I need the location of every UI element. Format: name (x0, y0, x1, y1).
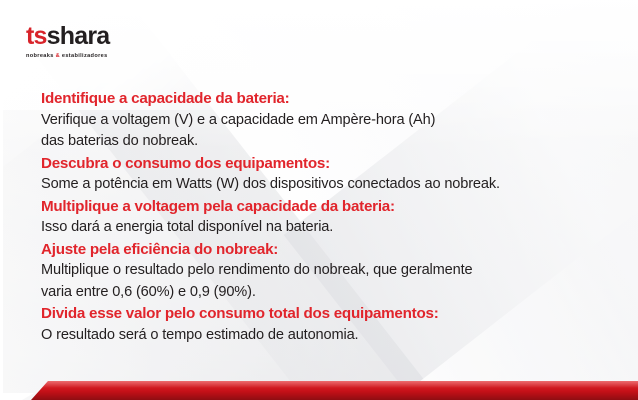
brand-tagline-before: nobreaks (26, 53, 56, 59)
infographic-slide: tsshara nobreaks & estabilizadores Ident… (0, 0, 638, 400)
bottom-accent-bar-gloss (0, 381, 638, 388)
step-body-line: Multiplique o resultado pelo rendimento … (41, 260, 601, 282)
step-item: Ajuste pela eficiência do nobreak: Multi… (41, 239, 601, 304)
step-body-line: Isso dará a energia total disponível na … (41, 217, 601, 239)
step-body-line: Some a potência em Watts (W) dos disposi… (41, 174, 601, 196)
brand-logo: tsshara nobreaks & estabilizadores (26, 24, 109, 59)
brand-tagline-after: estabilizadores (60, 53, 108, 59)
step-item: Identifique a capacidade da bateria: Ver… (41, 88, 601, 153)
step-title: Descubra o consumo dos equipamentos: (41, 153, 601, 175)
step-body-line: O resultado será o tempo estimado de aut… (41, 325, 601, 347)
step-body-line: Verifique a voltagem (V) e a capacidade … (41, 110, 601, 132)
brand-tagline: nobreaks & estabilizadores (26, 53, 109, 59)
step-body-line: varia entre 0,6 (60%) e 0,9 (90%). (41, 282, 601, 304)
step-item: Multiplique a voltagem pela capacidade d… (41, 196, 601, 239)
step-title: Divida esse valor pelo consumo total dos… (41, 303, 601, 325)
step-title: Ajuste pela eficiência do nobreak: (41, 239, 601, 261)
step-title: Identifique a capacidade da bateria: (41, 88, 601, 110)
left-edge-strip (0, 0, 3, 400)
step-item: Descubra o consumo dos equipamentos: Som… (41, 153, 601, 196)
bottom-accent-bar (0, 381, 638, 400)
brand-wordmark-shara: shara (47, 22, 110, 50)
brand-wordmark: tsshara (26, 24, 109, 49)
step-body-line: das baterias do nobreak. (41, 131, 601, 153)
brand-wordmark-ts: ts (26, 22, 47, 50)
step-item: Divida esse valor pelo consumo total dos… (41, 303, 601, 346)
step-title: Multiplique a voltagem pela capacidade d… (41, 196, 601, 218)
steps-list: Identifique a capacidade da bateria: Ver… (41, 88, 601, 346)
